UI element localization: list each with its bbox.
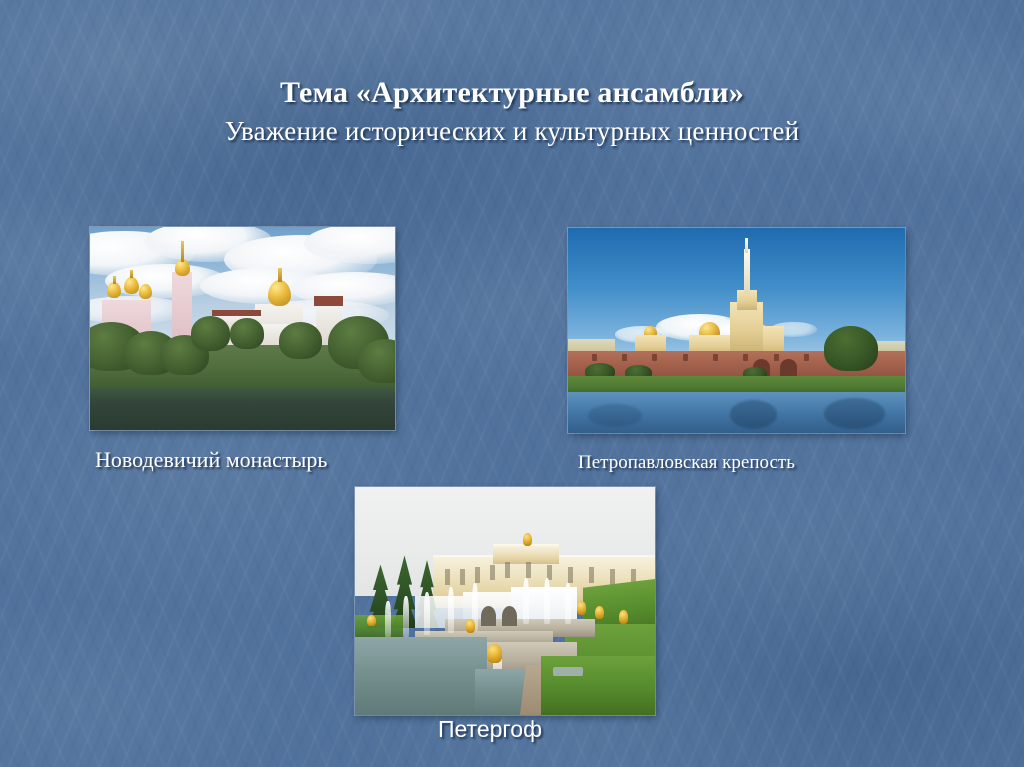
caption-petropavlovskaya: Петропавловская крепость (578, 452, 795, 474)
fountain-jet (385, 601, 391, 637)
cathedral-spire (744, 249, 750, 294)
water-reflection (730, 400, 777, 429)
wall-embrasure (592, 354, 597, 361)
wall-embrasure (774, 354, 779, 361)
fountain-jet (403, 596, 409, 637)
fountain-jet (565, 583, 571, 624)
fountain-jet (544, 578, 550, 624)
wall-embrasure (713, 354, 718, 361)
water-reflection (588, 404, 642, 427)
cross (278, 268, 282, 282)
caption-petergof: Петергоф (438, 716, 542, 743)
golden-statue (466, 619, 475, 633)
tree (230, 318, 264, 348)
wall-embrasure (652, 354, 657, 361)
tree (824, 326, 878, 371)
pond (90, 387, 395, 430)
cross (130, 270, 134, 278)
golden-dome (107, 282, 121, 298)
golden-statue (619, 610, 628, 624)
bell-tower-dome (175, 259, 190, 275)
golden-dome (139, 284, 152, 299)
tree (191, 316, 231, 351)
presentation-slide: Тема «Архитектурные ансамбли» Уважение и… (0, 0, 1024, 767)
gate-arch (780, 359, 797, 375)
palace-window (460, 569, 465, 585)
spire-needle (745, 238, 748, 252)
water-reflection (824, 398, 885, 429)
wall-embrasure (743, 354, 748, 361)
tower-roof (314, 296, 343, 306)
lawn (355, 615, 403, 638)
golden-dome (124, 277, 139, 294)
slide-subtitle: Уважение исторических и культурных ценно… (0, 114, 1024, 149)
palace-center-block (493, 544, 559, 564)
fountain-jet (424, 592, 430, 635)
golden-statue (577, 601, 586, 615)
palace-window (610, 569, 615, 585)
palace-window (505, 562, 510, 578)
palace-window (490, 565, 495, 581)
slide-title: Тема «Архитектурные ансамбли» (0, 74, 1024, 112)
wall-embrasure (683, 354, 688, 361)
palace-golden-dome (523, 533, 532, 547)
photo-novodevichy-monastery[interactable] (90, 227, 395, 430)
photo-petergof-scene (355, 487, 655, 715)
grotto-arch (481, 606, 496, 627)
wall-embrasure (804, 354, 809, 361)
photo-peterhof[interactable] (355, 487, 655, 715)
wall-embrasure (622, 354, 627, 361)
tree (279, 322, 322, 359)
palace-window (589, 567, 594, 583)
lawn-foreground (541, 656, 655, 715)
cross (113, 276, 117, 284)
golden-statue (595, 606, 604, 620)
palace-window (445, 569, 450, 585)
slide-title-block: Тема «Архитектурные ансамбли» Уважение и… (0, 74, 1024, 149)
photo-peter-and-paul-fortress[interactable] (568, 228, 905, 433)
golden-statue (367, 615, 376, 626)
photo-petropavlovskaya-scene (568, 228, 905, 433)
fountain-basin (355, 637, 487, 715)
photo-novodevichy-scene (90, 227, 395, 430)
golden-statue (487, 644, 502, 662)
bench (553, 667, 583, 676)
palace-window (526, 562, 531, 578)
palace-window (475, 567, 480, 583)
fountain-jet (523, 578, 529, 624)
caption-novodevichy: Новодевичий монастырь (95, 447, 327, 473)
bell-tower-spire (181, 241, 184, 261)
grotto-arch (502, 606, 517, 627)
fountain-jet (448, 587, 454, 633)
palace-window (568, 567, 573, 583)
